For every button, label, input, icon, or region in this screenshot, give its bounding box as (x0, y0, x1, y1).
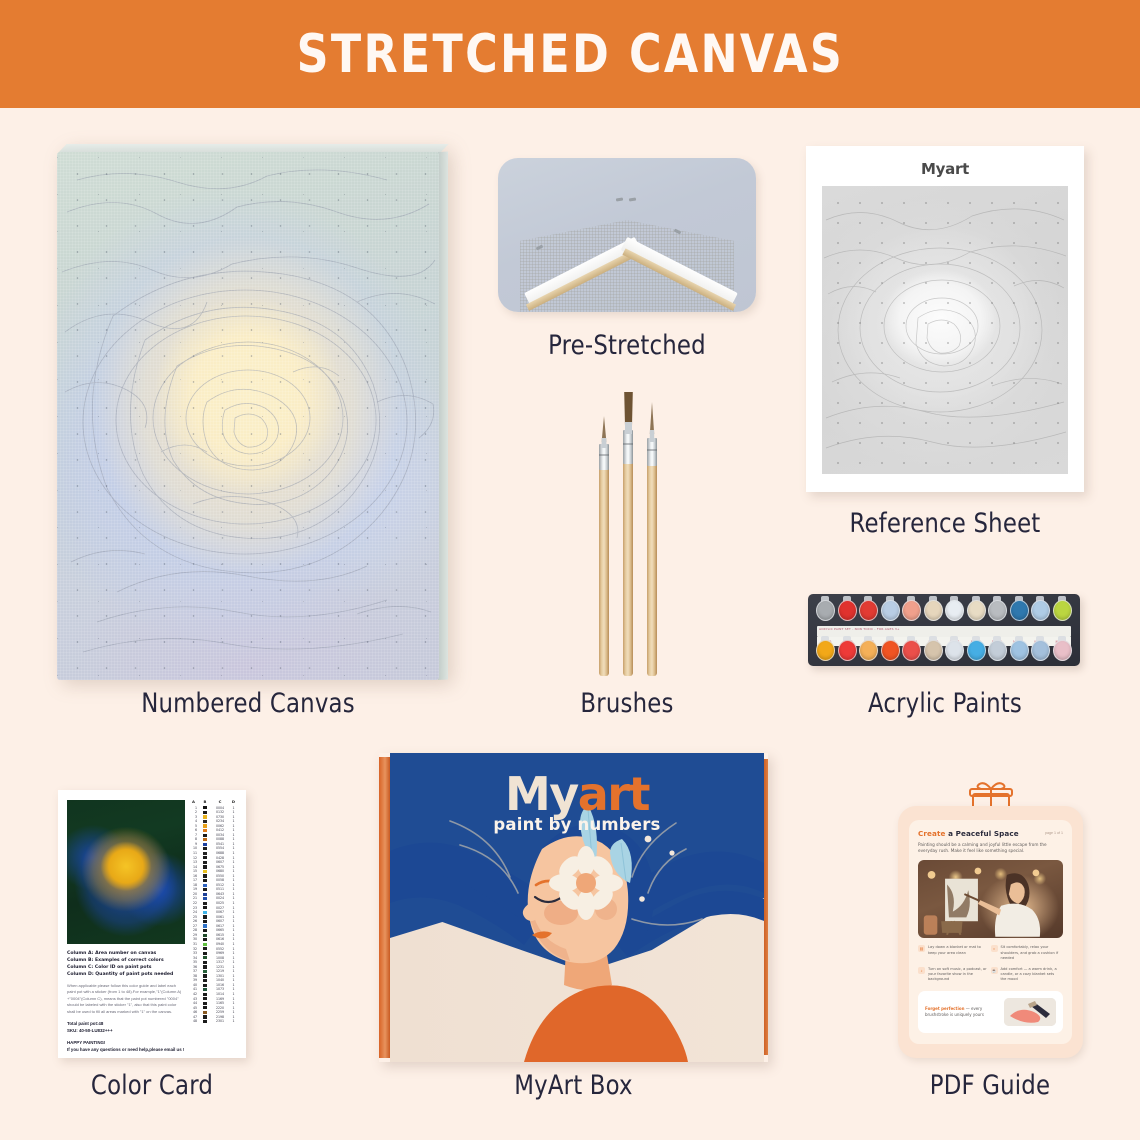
cell-color-swatch (199, 861, 211, 864)
color-swatch (203, 856, 206, 859)
paint-pot-body (924, 640, 943, 661)
cell-color-swatch (199, 847, 211, 850)
caption-pdf-guide: PDF Guide (883, 1070, 1097, 1101)
paint-pot-body (816, 640, 835, 661)
paint-pot-body (1031, 600, 1050, 621)
caption-pre-stretched: Pre-Stretched (506, 330, 749, 361)
pdf-tip-icon: ○ (991, 945, 998, 952)
paint-pot-body (816, 600, 835, 621)
box-subtitle: paint by numbers (390, 815, 764, 834)
cell-color-swatch (199, 843, 211, 846)
cell-color-swatch (199, 984, 211, 987)
cell-color-swatch (199, 915, 211, 918)
color-swatch (203, 997, 206, 1000)
canvas-right-edge (438, 151, 448, 680)
cell-color-swatch (199, 884, 211, 887)
brush-handle-1 (599, 466, 609, 676)
cell-color-swatch (199, 1011, 211, 1014)
color-swatch (203, 924, 206, 927)
color-card-total: Total paint pot:48 (67, 1020, 185, 1027)
color-swatch (203, 879, 206, 882)
cell-color-swatch (199, 893, 211, 896)
color-swatch (203, 893, 206, 896)
paint-pot (901, 638, 923, 664)
pdf-tip-icon: ☕ (991, 967, 998, 974)
cell-color-swatch (199, 815, 211, 818)
pdf-tip: ♪Turn on soft music, a podcast, or your … (918, 967, 991, 983)
pdf-tip-text: Lay down a blanket or mat to keep your a… (928, 945, 988, 961)
color-swatch (203, 838, 206, 841)
cell-color-swatch (199, 902, 211, 905)
cell-color-swatch (199, 938, 211, 941)
paint-pot (1030, 598, 1052, 624)
cell-color-swatch (199, 838, 211, 841)
color-swatch (203, 870, 206, 873)
color-swatch (203, 865, 206, 868)
cell-color-swatch (199, 952, 211, 955)
color-swatch (203, 938, 206, 941)
color-swatch (203, 911, 206, 914)
color-card-table: ABCD100041201321307301402341500621604121… (190, 800, 238, 1048)
pdf-guide-image: page 1 of 1 Create a Peaceful Space Pain… (898, 780, 1083, 1058)
legend-line-b: Column B: Examples of correct colors (67, 957, 185, 964)
legend-line-d: Column D: Quantity of paint pots needed (67, 971, 185, 978)
cell-color-swatch (199, 829, 211, 832)
color-swatch (203, 811, 206, 814)
cell-color-swatch (199, 965, 211, 968)
color-swatch (203, 884, 206, 887)
cell-color-swatch (199, 1006, 211, 1009)
color-swatch (203, 824, 206, 827)
color-swatch (203, 947, 206, 950)
brush-ferrule-3 (647, 438, 657, 466)
cell-color-swatch (199, 934, 211, 937)
color-swatch (203, 1002, 206, 1005)
staple-1 (616, 198, 623, 202)
pdf-photo (918, 860, 1063, 938)
paint-pot-body (881, 640, 900, 661)
paint-pot-body (924, 600, 943, 621)
cell-color-swatch (199, 1002, 211, 1005)
paint-pot (837, 638, 859, 664)
paint-pot (987, 638, 1009, 664)
cell-color-swatch (199, 1020, 211, 1023)
color-swatch (203, 897, 206, 900)
caption-myart-box: MyArt Box (391, 1070, 757, 1101)
box-logo-my: My (505, 767, 578, 821)
paint-pot (966, 638, 988, 664)
canvas-weave-texture (57, 152, 439, 680)
product-infographic: STRETCHED CANVAS (0, 0, 1140, 1140)
cell-color-swatch (199, 988, 211, 991)
color-swatch (203, 820, 206, 823)
brush-flat (623, 394, 633, 676)
brush-liner (647, 404, 657, 676)
pdf-callout-image (1004, 998, 1056, 1026)
pdf-tips-list: ▤Lay down a blanket or mat to keep your … (918, 945, 1063, 988)
pdf-page-label: page 1 of 1 (1045, 831, 1063, 835)
cell-color-swatch (199, 806, 211, 809)
color-swatch (203, 806, 206, 809)
cell-color-id: 2301 (211, 1019, 229, 1024)
color-swatch (203, 861, 206, 864)
legend-line-a: Column A: Area number on canvas (67, 950, 185, 957)
cell-color-swatch (199, 924, 211, 927)
color-card-contact: If you have any questions or need help,p… (67, 1046, 185, 1053)
paint-pot (1009, 598, 1031, 624)
pdf-callout-bold: Forget perfection (925, 1006, 964, 1011)
color-swatch (203, 934, 206, 937)
pdf-tip: ☕Add comfort — a warm drink, a candle, o… (991, 967, 1064, 983)
color-swatch (203, 1006, 206, 1009)
caption-numbered-canvas: Numbered Canvas (68, 688, 427, 719)
cell-color-swatch (199, 911, 211, 914)
color-swatch (203, 829, 206, 832)
paint-pot-body (859, 640, 878, 661)
table-row: 4823011 (190, 1019, 238, 1024)
paint-pot (1052, 638, 1074, 664)
color-swatch (203, 965, 206, 968)
cell-color-swatch (199, 956, 211, 959)
paint-pot (880, 638, 902, 664)
color-card-instructions: When applicable please follow this color… (67, 983, 185, 1015)
brushstroke-illustration (1004, 998, 1056, 1026)
paint-pot-body (945, 640, 964, 661)
caption-reference-sheet: Reference Sheet (814, 508, 1075, 539)
brush-tip-2 (623, 392, 634, 434)
paint-pot (858, 598, 880, 624)
cell-area-number: 48 (190, 1019, 199, 1024)
paint-pot (1009, 638, 1031, 664)
pre-stretched-image (498, 158, 756, 312)
paint-pot-body (988, 600, 1007, 621)
box-front-face: Myart paint by numbers (390, 753, 764, 1062)
color-swatch (203, 874, 206, 877)
color-swatch (203, 888, 206, 891)
pdf-tip-text: Sit comfortably, relax your shoulders, a… (1001, 945, 1061, 961)
color-card-table-body: ABCD100041201321307301402341500621604121… (190, 800, 238, 1024)
cell-color-swatch (199, 997, 211, 1000)
paint-pot (944, 598, 966, 624)
color-swatch (203, 815, 206, 818)
brush-tip-1 (600, 416, 608, 448)
numbered-canvas-image (57, 152, 439, 680)
cell-color-swatch (199, 856, 211, 859)
myart-box-image: Myart paint by numbers (379, 753, 768, 1062)
paint-pot-body (1010, 640, 1029, 661)
paint-pot-body (838, 640, 857, 661)
paint-pot-body (1031, 640, 1050, 661)
cell-color-swatch (199, 879, 211, 882)
paint-pot (966, 598, 988, 624)
cell-color-swatch (199, 811, 211, 814)
paint-pot-body (967, 640, 986, 661)
table-header-cell: C (211, 800, 229, 805)
cell-color-swatch (199, 870, 211, 873)
paint-pot (1052, 598, 1074, 624)
color-swatch (203, 843, 206, 846)
paint-pot-body (988, 640, 1007, 661)
color-swatch (203, 988, 206, 991)
reference-number-dots (822, 186, 1068, 474)
table-header-cell: A (190, 800, 199, 805)
color-swatch (203, 1020, 206, 1023)
paint-pot (901, 598, 923, 624)
paint-pot-body (945, 600, 964, 621)
canvas-face (57, 152, 439, 680)
acrylic-paints-image: ACRYLIC PAINT SET - NON TOXIC - FOR AGES… (808, 594, 1080, 666)
box-spine-left (379, 757, 390, 1058)
color-swatch (203, 979, 206, 982)
brush-handle-3 (647, 462, 657, 676)
cell-color-swatch (199, 906, 211, 909)
caption-color-card: Color Card (47, 1070, 258, 1101)
pdf-guide-card: page 1 of 1 Create a Peaceful Space Pain… (898, 806, 1083, 1058)
paint-pot-body (859, 600, 878, 621)
paint-pot (944, 638, 966, 664)
color-card-sku: SKU: 40-50-LU832+++ (67, 1027, 185, 1034)
pdf-tip-text: Add comfort — a warm drink, a candle, or… (1001, 967, 1061, 983)
paint-pot-body (1010, 600, 1029, 621)
color-swatch (203, 1015, 206, 1018)
cell-color-swatch (199, 874, 211, 877)
color-swatch (203, 847, 206, 850)
table-header-cell: B (199, 800, 211, 805)
color-card-legend: Column A: Area number on canvas Column B… (67, 950, 185, 978)
tray-label-text: ACRYLIC PAINT SET - NON TOXIC - FOR AGES… (819, 627, 1069, 632)
cell-color-swatch (199, 943, 211, 946)
pdf-tip-icon: ♪ (918, 967, 925, 974)
color-swatch (203, 943, 206, 946)
paint-pot (880, 598, 902, 624)
paint-pot-body (902, 600, 921, 621)
brush-ferrule-2 (623, 430, 633, 464)
paint-pot (815, 598, 837, 624)
cell-color-swatch (199, 897, 211, 900)
table-header-cell: D (229, 800, 238, 805)
brush-fine-round (599, 418, 609, 676)
reference-sheet-logo: Myart (822, 160, 1068, 178)
cell-color-swatch (199, 865, 211, 868)
cell-color-swatch (199, 888, 211, 891)
cell-color-swatch (199, 824, 211, 827)
color-card-artwork-photo (67, 800, 185, 944)
pdf-callout-text: Forget perfection — every brushstroke is… (925, 1006, 998, 1018)
cell-color-swatch (199, 947, 211, 950)
cell-color-swatch (199, 993, 211, 996)
pdf-intro: Painting should be a calming and joyful … (918, 842, 1063, 854)
cell-quantity: 1 (229, 1019, 238, 1024)
box-logo: Myart (390, 767, 764, 821)
color-card-image: Column A: Area number on canvas Column B… (58, 790, 246, 1058)
paint-pot (858, 638, 880, 664)
paint-pot (923, 598, 945, 624)
header-banner: STRETCHED CANVAS (0, 0, 1140, 108)
cell-color-swatch (199, 852, 211, 855)
pdf-heading: Create a Peaceful Space (918, 829, 1063, 838)
color-swatch (203, 974, 206, 977)
cell-color-swatch (199, 820, 211, 823)
pdf-tip-text: Turn on soft music, a podcast, or your f… (928, 967, 988, 983)
color-swatch (203, 834, 206, 837)
color-swatch (203, 915, 206, 918)
color-swatch (203, 1011, 206, 1014)
cell-color-swatch (199, 929, 211, 932)
color-swatch (203, 906, 206, 909)
paint-pot-body (1053, 600, 1072, 621)
paint-pot (1030, 638, 1052, 664)
paint-pot-body (881, 600, 900, 621)
paint-pot (815, 638, 837, 664)
color-swatch (203, 952, 206, 955)
paint-pot-body (902, 640, 921, 661)
color-card-table-header: ABCD (190, 800, 238, 805)
cell-color-swatch (199, 961, 211, 964)
paint-pot-body (967, 600, 986, 621)
paint-pot (923, 638, 945, 664)
legend-line-c: Column C: Color ID on paint pots (67, 964, 185, 971)
brushes-image (585, 390, 673, 676)
color-swatch (203, 852, 206, 855)
paint-pot (987, 598, 1009, 624)
color-swatch (203, 984, 206, 987)
cell-color-swatch (199, 974, 211, 977)
color-swatch (203, 929, 206, 932)
brush-tip-3 (648, 402, 656, 442)
staple-2 (629, 198, 636, 202)
paint-pot-body (1053, 640, 1072, 661)
reference-sheet-image: Myart (806, 146, 1084, 492)
pdf-callout: Forget perfection — every brushstroke is… (918, 991, 1063, 1033)
color-swatch (203, 902, 206, 905)
pdf-heading-rest: a Peaceful Space (945, 829, 1018, 838)
caption-acrylic-paints: Acrylic Paints (814, 688, 1075, 719)
color-swatch (203, 970, 206, 973)
cell-color-swatch (199, 1015, 211, 1018)
color-swatch (203, 961, 206, 964)
cell-color-swatch (199, 834, 211, 837)
paint-pot (837, 598, 859, 624)
pdf-tip: ○Sit comfortably, relax your shoulders, … (991, 945, 1064, 961)
color-card-left-column: Column A: Area number on canvas Column B… (67, 800, 185, 1048)
cell-color-swatch (199, 979, 211, 982)
pdf-heading-accent: Create (918, 829, 945, 838)
color-swatch (203, 993, 206, 996)
color-swatch (203, 956, 206, 959)
pdf-tip-icon: ▤ (918, 945, 925, 952)
box-logo-art: art (578, 767, 649, 821)
page-title: STRETCHED CANVAS (296, 24, 844, 85)
cell-color-swatch (199, 920, 211, 923)
color-swatch (203, 920, 206, 923)
color-card-happy: HAPPY PAINTING! (67, 1039, 185, 1046)
paint-pot-row-bottom (815, 638, 1073, 664)
caption-brushes: Brushes (506, 688, 749, 719)
paint-pot-row-top (815, 598, 1073, 624)
cell-color-swatch (199, 970, 211, 973)
pdf-guide-inner: page 1 of 1 Create a Peaceful Space Pain… (909, 820, 1072, 1044)
paint-pot-body (838, 600, 857, 621)
brush-handle-2 (623, 460, 633, 676)
reference-sheet-artwork (822, 186, 1068, 474)
tray-label-top: ACRYLIC PAINT SET - NON TOXIC - FOR AGES… (817, 626, 1071, 637)
pdf-tip: ▤Lay down a blanket or mat to keep your … (918, 945, 991, 961)
pdf-photo-illustration (918, 860, 1063, 938)
